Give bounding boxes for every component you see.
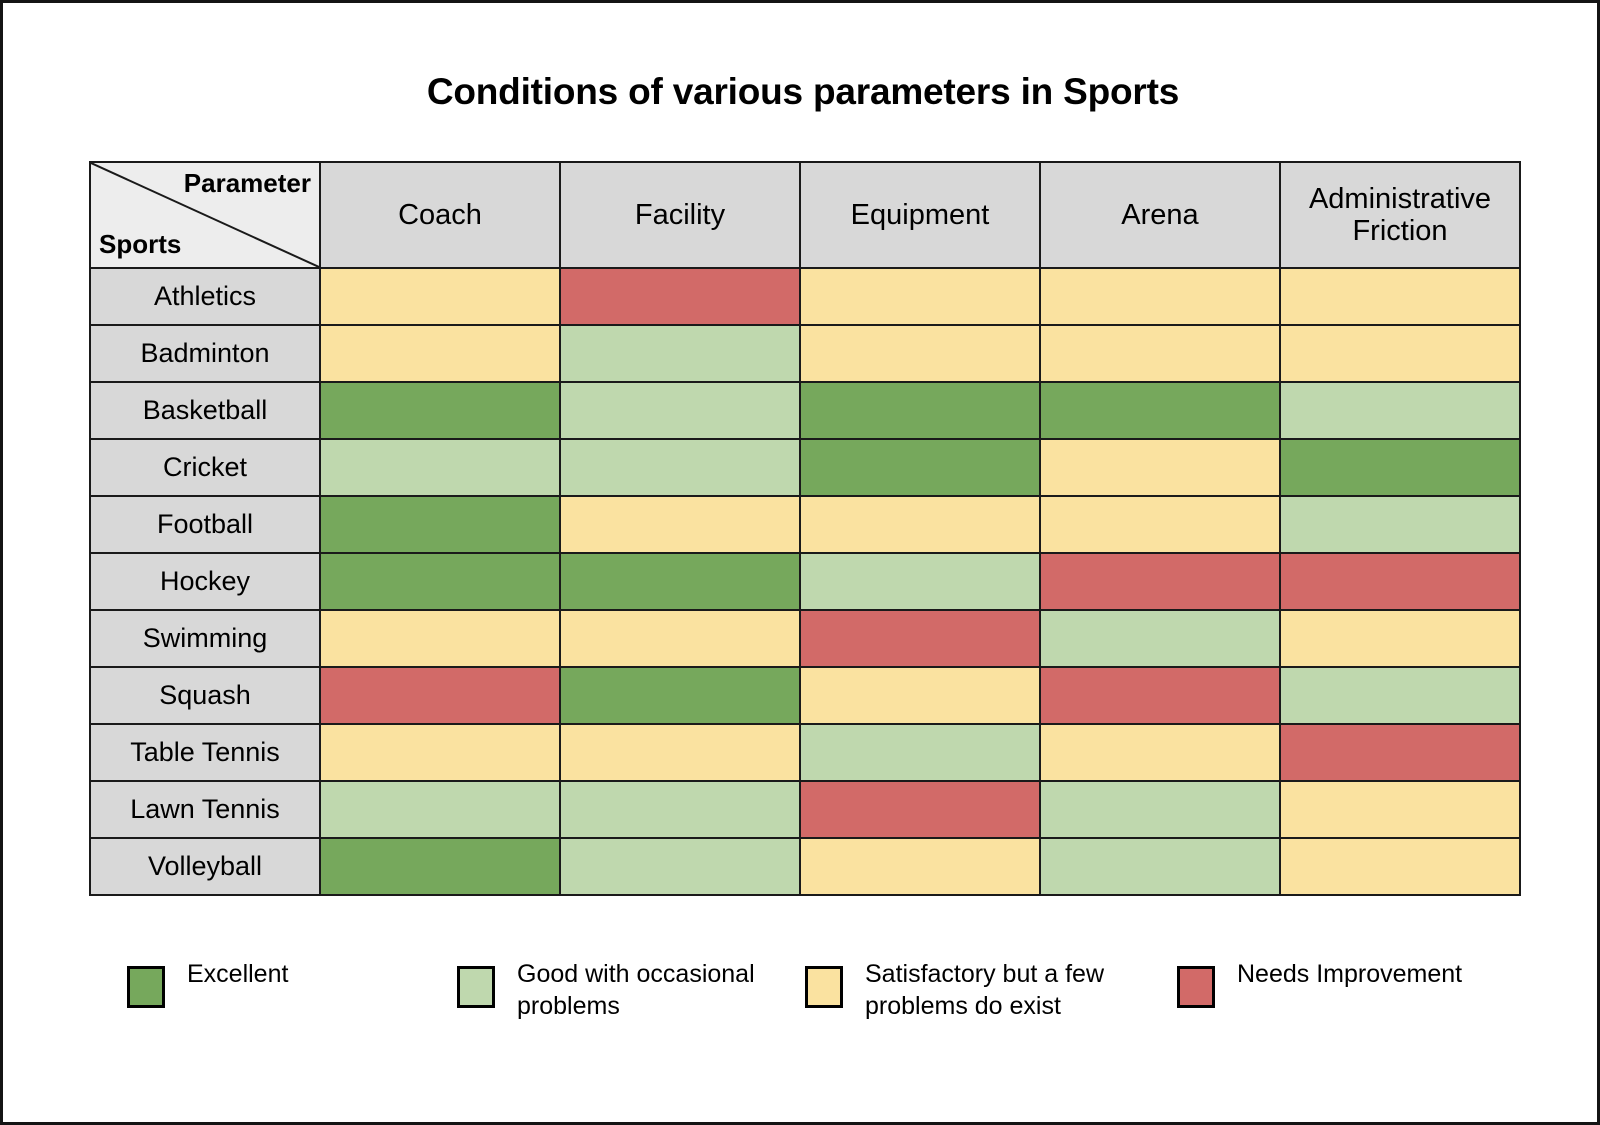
row-header-cricket: Cricket bbox=[90, 439, 320, 496]
legend-swatch-needs bbox=[1177, 966, 1215, 1008]
chart-title: Conditions of various parameters in Spor… bbox=[3, 71, 1600, 113]
row-header-football: Football bbox=[90, 496, 320, 553]
heatmap-cell bbox=[560, 325, 800, 382]
heatmap-cell bbox=[1040, 496, 1280, 553]
column-header-facility: Facility bbox=[560, 162, 800, 268]
matrix-row: Lawn Tennis bbox=[90, 781, 1520, 838]
heatmap-cell bbox=[800, 610, 1040, 667]
heatmap-cell bbox=[1040, 382, 1280, 439]
matrix-header: Parameter Sports Coach Facility Equipmen… bbox=[90, 162, 1520, 268]
legend-label-satisfactory: Satisfactory but a few problems do exist bbox=[865, 958, 1130, 1022]
heatmap-cell bbox=[560, 553, 800, 610]
heatmap-cell bbox=[1280, 325, 1520, 382]
matrix-header-row: Parameter Sports Coach Facility Equipmen… bbox=[90, 162, 1520, 268]
matrix-row: Football bbox=[90, 496, 1520, 553]
heatmap-cell bbox=[320, 553, 560, 610]
heatmap-cell bbox=[560, 439, 800, 496]
heatmap-cell bbox=[320, 667, 560, 724]
column-header-coach: Coach bbox=[320, 162, 560, 268]
legend-swatch-satisfactory bbox=[805, 966, 843, 1008]
legend-item-excellent: Excellent bbox=[89, 958, 457, 1008]
heatmap-cell bbox=[800, 382, 1040, 439]
heatmap-cell bbox=[1040, 268, 1280, 325]
column-header-arena: Arena bbox=[1040, 162, 1280, 268]
matrix-row: Table Tennis bbox=[90, 724, 1520, 781]
heatmap-cell bbox=[320, 781, 560, 838]
matrix-row: Athletics bbox=[90, 268, 1520, 325]
heatmap-cell bbox=[1280, 724, 1520, 781]
matrix-row: Squash bbox=[90, 667, 1520, 724]
heatmap-cell bbox=[320, 382, 560, 439]
heatmap-cell bbox=[800, 325, 1040, 382]
matrix-row: Swimming bbox=[90, 610, 1520, 667]
heatmap-cell bbox=[1280, 838, 1520, 895]
heatmap-cell bbox=[320, 496, 560, 553]
heatmap-cell bbox=[320, 325, 560, 382]
heatmap-cell bbox=[1040, 724, 1280, 781]
heatmap-cell bbox=[320, 838, 560, 895]
heatmap-cell bbox=[560, 382, 800, 439]
heatmap-cell bbox=[800, 439, 1040, 496]
row-header-basketball: Basketball bbox=[90, 382, 320, 439]
legend: ExcellentGood with occasional problemsSa… bbox=[89, 958, 1521, 1022]
legend-label-excellent: Excellent bbox=[187, 958, 288, 990]
chart-canvas: Conditions of various parameters in Spor… bbox=[0, 0, 1600, 1125]
heatmap-cell bbox=[1280, 667, 1520, 724]
row-header-volleyball: Volleyball bbox=[90, 838, 320, 895]
row-header-swimming: Swimming bbox=[90, 610, 320, 667]
heatmap-cell bbox=[1280, 268, 1520, 325]
column-axis-label: Parameter bbox=[184, 169, 311, 198]
row-header-lawn-tennis: Lawn Tennis bbox=[90, 781, 320, 838]
heatmap-cell bbox=[1040, 781, 1280, 838]
row-header-hockey: Hockey bbox=[90, 553, 320, 610]
heatmap-cell bbox=[1280, 382, 1520, 439]
legend-label-needs: Needs Improvement bbox=[1237, 958, 1462, 990]
heatmap-cell bbox=[1040, 553, 1280, 610]
heatmap-cell bbox=[1280, 610, 1520, 667]
legend-item-good: Good with occasional problems bbox=[457, 958, 805, 1022]
legend-swatch-excellent bbox=[127, 966, 165, 1008]
row-header-athletics: Athletics bbox=[90, 268, 320, 325]
heatmap-cell bbox=[1280, 496, 1520, 553]
heatmap-cell bbox=[800, 838, 1040, 895]
matrix-body: AthleticsBadmintonBasketballCricketFootb… bbox=[90, 268, 1520, 895]
column-header-equipment: Equipment bbox=[800, 162, 1040, 268]
row-axis-label: Sports bbox=[99, 230, 181, 259]
legend-swatch-good bbox=[457, 966, 495, 1008]
heatmap-cell bbox=[800, 781, 1040, 838]
conditions-matrix: Parameter Sports Coach Facility Equipmen… bbox=[89, 161, 1521, 896]
heatmap-cell bbox=[1040, 838, 1280, 895]
legend-label-good: Good with occasional problems bbox=[517, 958, 782, 1022]
heatmap-cell bbox=[800, 268, 1040, 325]
legend-item-satisfactory: Satisfactory but a few problems do exist bbox=[805, 958, 1177, 1022]
heatmap-cell bbox=[320, 268, 560, 325]
heatmap-cell bbox=[1040, 667, 1280, 724]
row-header-badminton: Badminton bbox=[90, 325, 320, 382]
heatmap-cell bbox=[800, 667, 1040, 724]
column-header-administrative-friction: Administrative Friction bbox=[1280, 162, 1520, 268]
row-header-squash: Squash bbox=[90, 667, 320, 724]
heatmap-cell bbox=[560, 496, 800, 553]
heatmap-cell bbox=[1280, 781, 1520, 838]
heatmap-cell bbox=[560, 667, 800, 724]
matrix-row: Volleyball bbox=[90, 838, 1520, 895]
matrix-row: Basketball bbox=[90, 382, 1520, 439]
heatmap-cell bbox=[320, 439, 560, 496]
heatmap-cell bbox=[1040, 439, 1280, 496]
heatmap-cell bbox=[320, 610, 560, 667]
heatmap-cell bbox=[1280, 553, 1520, 610]
heatmap-cell bbox=[1280, 439, 1520, 496]
row-header-table-tennis: Table Tennis bbox=[90, 724, 320, 781]
heatmap-cell bbox=[560, 610, 800, 667]
heatmap-cell bbox=[1040, 610, 1280, 667]
heatmap-cell bbox=[320, 724, 560, 781]
heatmap-cell bbox=[560, 838, 800, 895]
heatmap-cell bbox=[800, 553, 1040, 610]
heatmap-cell bbox=[800, 496, 1040, 553]
heatmap-cell bbox=[560, 724, 800, 781]
matrix-row: Hockey bbox=[90, 553, 1520, 610]
legend-item-needs: Needs Improvement bbox=[1177, 958, 1477, 1008]
heatmap-cell bbox=[560, 268, 800, 325]
heatmap-cell bbox=[560, 781, 800, 838]
matrix-row: Cricket bbox=[90, 439, 1520, 496]
matrix-corner-cell: Parameter Sports bbox=[90, 162, 320, 268]
heatmap-cell bbox=[800, 724, 1040, 781]
matrix-row: Badminton bbox=[90, 325, 1520, 382]
heatmap-cell bbox=[1040, 325, 1280, 382]
